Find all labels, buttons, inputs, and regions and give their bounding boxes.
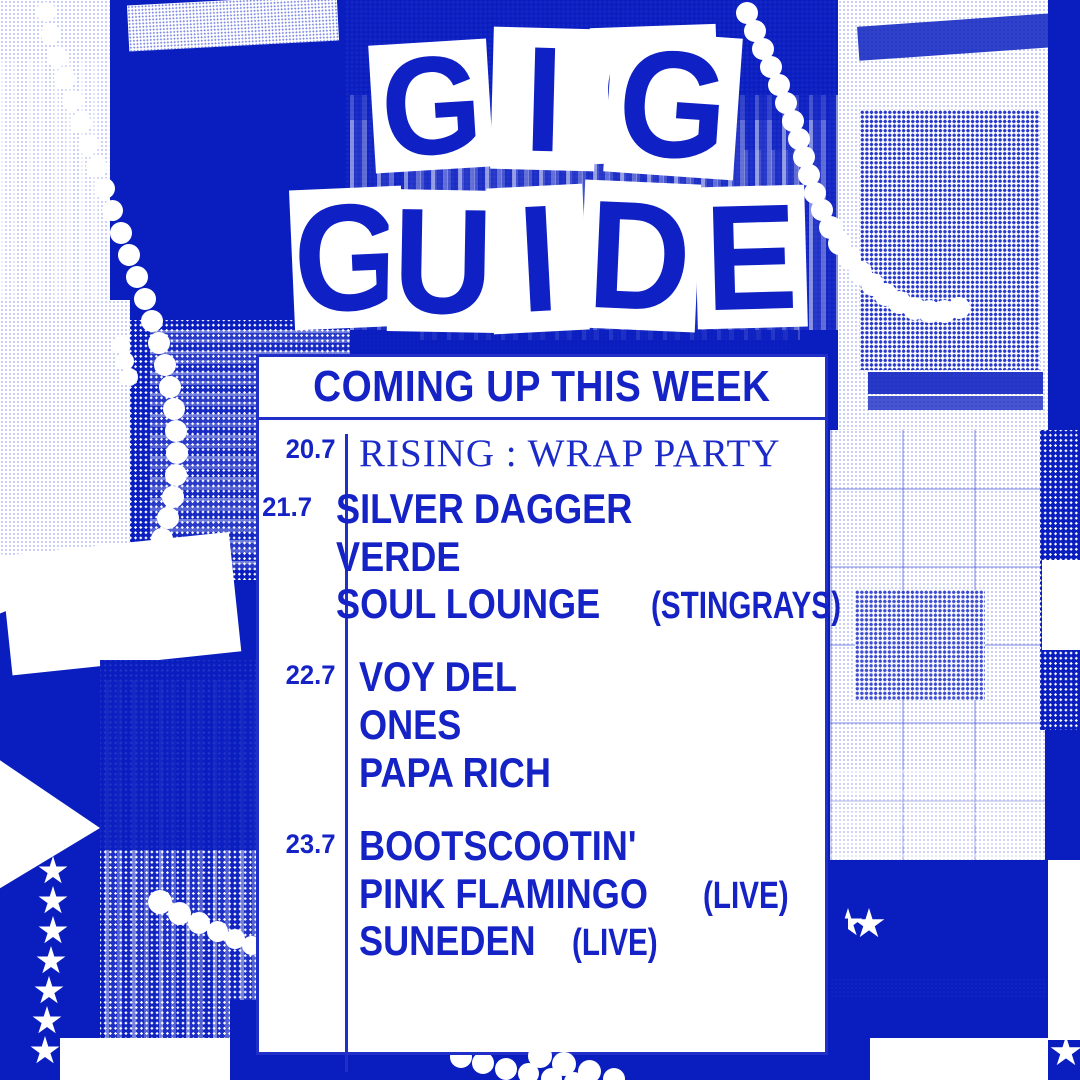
title-letter: G [613, 25, 732, 184]
title-tile-gig-1: I [490, 27, 598, 172]
title-letter: U [392, 185, 494, 337]
listing-act-name: VERDE [336, 536, 460, 579]
listing-date: 21.7 [262, 488, 321, 523]
poster-canvas: G I G G G U I D E COMING UP THIS WEEK [0, 0, 1080, 1080]
bg-poster-nowavailable-bar [868, 372, 1043, 394]
listing-date: 20.7 [263, 434, 345, 465]
title-tile-gig-3: G [603, 30, 743, 181]
listing-act: RISING : WRAP PARTY [359, 434, 825, 474]
listing-act-name: SILVER DAGGER [336, 488, 632, 531]
listing-act: VOY DEL [359, 656, 825, 699]
listing-group: 20.7 RISING : WRAP PARTY [259, 434, 825, 474]
title-tile-gig-0: G [368, 39, 494, 174]
listing-act-name: RISING : WRAP PARTY [359, 434, 781, 474]
listing-acts: RISING : WRAP PARTY [345, 434, 825, 474]
title-letter: I [515, 182, 562, 336]
title-letter: G [377, 33, 486, 179]
title-tile-guide-3: D [579, 180, 701, 333]
listing-act-name: PINK FLAMINGO [359, 873, 648, 916]
poster-title: G I G G G U I D E [0, 0, 1080, 345]
listing-acts: SILVER DAGGER VERDE SOUL LOUNGE(STINGRAY… [322, 488, 895, 626]
card-header-title: COMING UP THIS WEEK [313, 362, 770, 412]
listing-act-name: BOOTSCOOTIN' [359, 825, 636, 868]
listing-act: SILVER DAGGER [336, 488, 895, 531]
title-tile-guide-1: U [387, 189, 499, 333]
listing-act: ONES [359, 704, 825, 747]
listing-date: 23.7 [263, 825, 345, 860]
listing-act: SUNEDEN(LIVE) [359, 920, 825, 963]
bg-right-lower-fade [830, 978, 1045, 998]
listing-group: 22.7 VOY DEL ONES PAPA RICH [259, 656, 825, 794]
listing-act-name: VOY DEL [359, 656, 517, 699]
listing-acts: BOOTSCOOTIN' PINK FLAMINGO(LIVE) SUNEDEN… [345, 825, 825, 963]
gig-listing-card: COMING UP THIS WEEK 20.7 RISING : WRAP P… [256, 354, 828, 1055]
listing-act: PAPA RICH [359, 752, 825, 795]
listing-act-name: SUNEDEN [359, 920, 536, 963]
listing-acts: VOY DEL ONES PAPA RICH [345, 656, 825, 794]
title-letter: I [523, 24, 565, 175]
bg-right-edge-white [1042, 560, 1080, 650]
bg-poster-subline-bar [868, 396, 1043, 410]
card-header: COMING UP THIS WEEK [259, 357, 825, 420]
listing-act: VERDE [336, 536, 895, 579]
listing-act-suffix: (LIVE) [572, 924, 658, 963]
listing-act: PINK FLAMINGO(LIVE) [359, 873, 825, 916]
title-letter: E [703, 181, 799, 333]
title-tile-guide-2: I [486, 184, 590, 335]
card-body: 20.7 RISING : WRAP PARTY 21.7 SILVER DAG… [259, 434, 825, 1072]
listing-act: SOUL LOUNGE(STINGRAYS) [336, 583, 895, 626]
title-tile-guide-4: E [694, 185, 808, 330]
bg-right-lower-blue-top [822, 860, 1048, 912]
listing-group: 23.7 BOOTSCOOTIN' PINK FLAMINGO(LIVE) SU… [259, 825, 825, 963]
listing-act-name: ONES [359, 704, 461, 747]
bg-right-edge-white-lower [1048, 860, 1080, 1040]
listing-act-name: PAPA RICH [359, 752, 551, 795]
listing-act-suffix: (LIVE) [703, 877, 789, 916]
listing-group: 21.7 SILVER DAGGER VERDE SOUL LOUNGE(STI… [259, 488, 825, 626]
listing-act-name: SOUL LOUNGE [336, 583, 600, 626]
listing-act-suffix: (STINGRAYS) [651, 587, 841, 626]
title-letter: D [586, 177, 695, 335]
listing-date: 22.7 [263, 656, 345, 691]
listing-act: BOOTSCOOTIN' [359, 825, 825, 868]
